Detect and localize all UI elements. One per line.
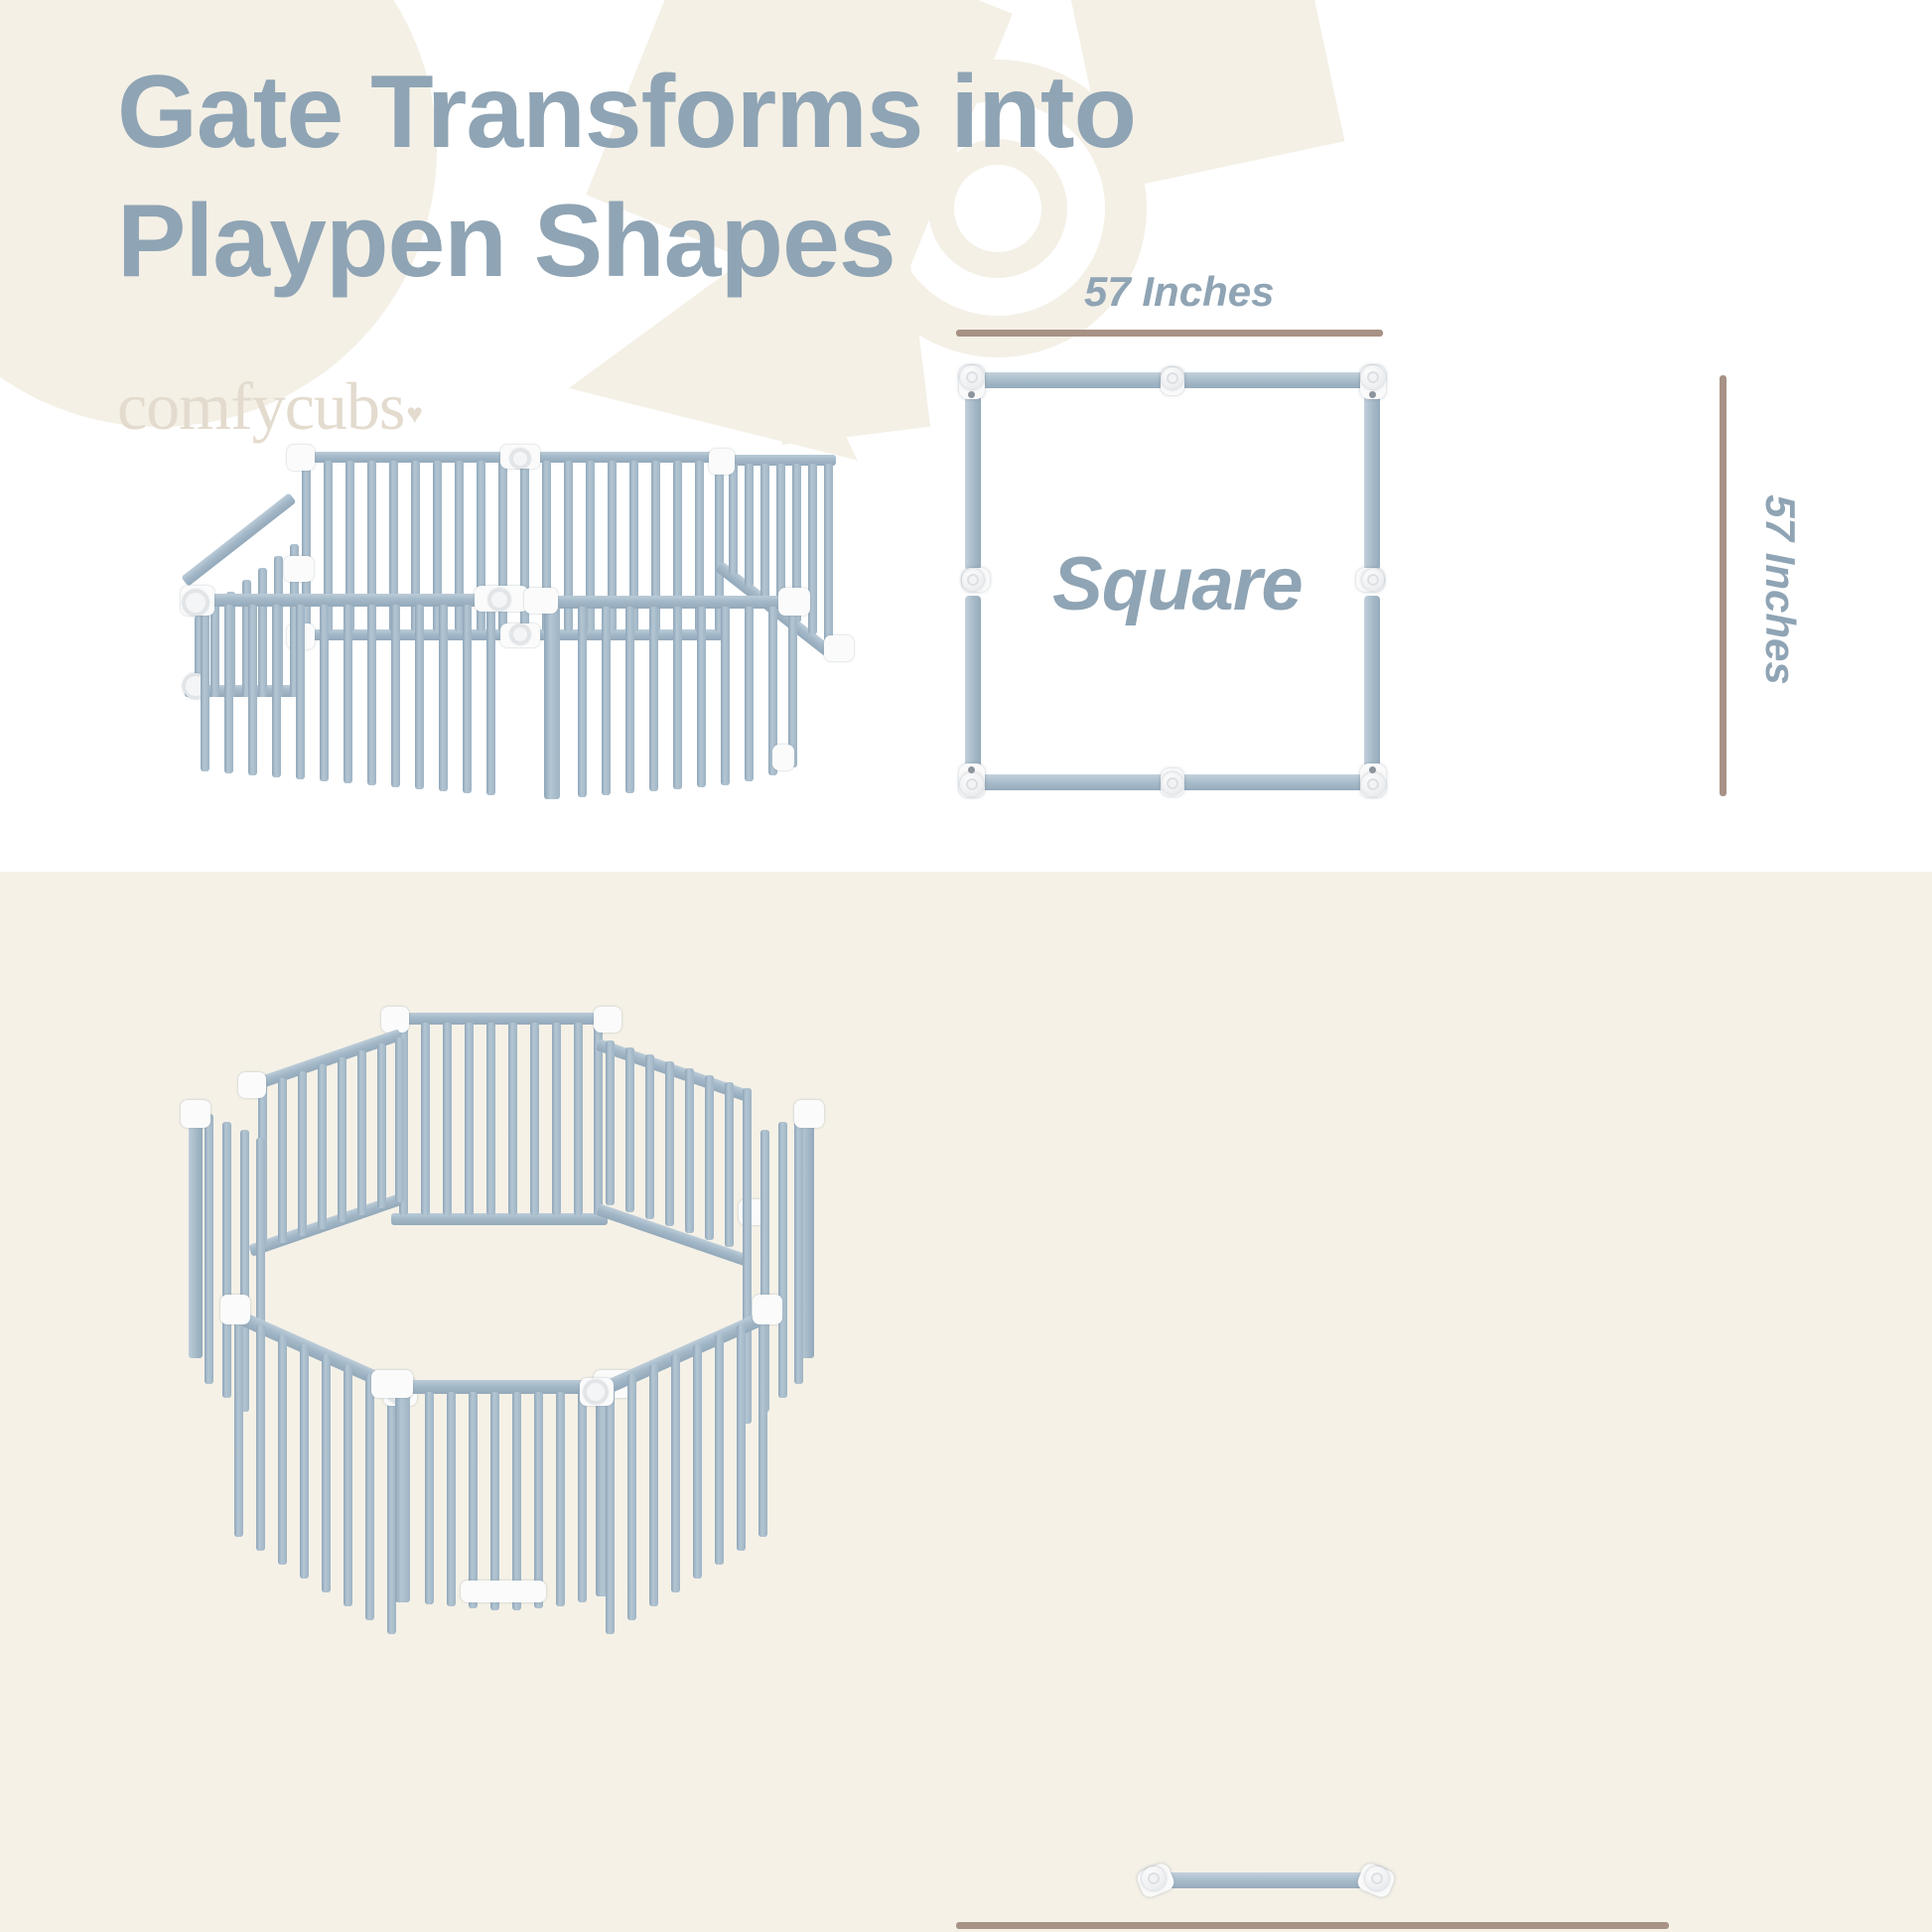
pivot-mid-top bbox=[1162, 367, 1183, 389]
pen-bar bbox=[300, 1344, 309, 1579]
frame-segment-top-left bbox=[967, 372, 1164, 388]
pen-panel-front-right bbox=[538, 596, 808, 784]
width-measure-line-square bbox=[956, 330, 1383, 337]
pen-bar bbox=[322, 1354, 331, 1592]
pen-bar bbox=[443, 1023, 452, 1215]
brand-logo-text: comfycubs bbox=[117, 368, 404, 444]
pen-bar bbox=[272, 605, 281, 777]
frame-segment-left-upper bbox=[965, 391, 981, 570]
pen-hinge-corner bbox=[709, 449, 735, 475]
oct-panel-front-gate bbox=[385, 1380, 620, 1604]
brand-logo: comfycubs♥ bbox=[117, 367, 422, 446]
pen-bar bbox=[625, 1047, 634, 1212]
width-label-square: 57 Inches bbox=[1084, 268, 1274, 316]
pen-bar bbox=[788, 607, 797, 767]
pen-bar bbox=[725, 1082, 734, 1247]
pen-bar bbox=[377, 1043, 386, 1208]
section-octagon: 70 inches 70 inches bbox=[0, 872, 1932, 1932]
pen-hinge-gate bbox=[524, 588, 558, 614]
pen-bar bbox=[625, 607, 634, 793]
pivot-oct-2 bbox=[1365, 1866, 1389, 1890]
rail-left-post bbox=[189, 1108, 203, 1358]
pen-hinge-corner bbox=[284, 556, 314, 582]
height-measure-line-square bbox=[1720, 375, 1726, 796]
pen-bar bbox=[602, 607, 611, 795]
oct-pivot bbox=[584, 1380, 608, 1404]
pen-bar bbox=[721, 607, 730, 785]
pen-bar bbox=[673, 607, 682, 789]
pen-bar bbox=[705, 1075, 714, 1240]
page-title: Gate Transforms into Playpen Shapes bbox=[117, 48, 1348, 306]
oct-panel-front-right bbox=[598, 1305, 776, 1567]
pivot-oct-1 bbox=[1142, 1866, 1166, 1890]
pen-bar bbox=[530, 1023, 539, 1215]
pen-bar bbox=[729, 464, 738, 575]
pivot-mid-right bbox=[1362, 569, 1384, 591]
pen-bar bbox=[201, 605, 209, 771]
frame-segment-right-upper bbox=[1364, 391, 1380, 570]
oct-hinge bbox=[753, 1295, 782, 1324]
pen-bar bbox=[824, 464, 833, 646]
pen-bar bbox=[256, 1324, 265, 1551]
pen-bar bbox=[508, 1023, 517, 1215]
pen-bar bbox=[665, 1061, 674, 1226]
pivot-corner-br bbox=[1361, 772, 1385, 796]
heart-icon: ♥ bbox=[406, 399, 422, 430]
pen-bar bbox=[318, 1064, 327, 1229]
pen-bar bbox=[737, 1324, 746, 1551]
pen-bar bbox=[693, 1344, 702, 1579]
pen-bar bbox=[365, 1374, 374, 1620]
pivot-corner-bl bbox=[960, 772, 984, 796]
pen-bar bbox=[395, 1037, 404, 1202]
pen-bar bbox=[606, 1384, 615, 1634]
pen-bar bbox=[296, 605, 305, 779]
pen-bar bbox=[298, 1071, 307, 1236]
pen-post bbox=[544, 607, 560, 799]
pen-bar bbox=[338, 1057, 346, 1222]
oct-panel-back-left bbox=[250, 1033, 401, 1259]
shape-label-square: Square bbox=[1052, 541, 1303, 627]
oct-hinge bbox=[220, 1295, 250, 1324]
pen-pivot bbox=[488, 589, 510, 611]
oct-hinge-gate bbox=[371, 1370, 413, 1398]
oct-hinge bbox=[794, 1100, 824, 1128]
frame-segment-bottom-right bbox=[1181, 774, 1376, 790]
pen-bar bbox=[415, 605, 424, 789]
oct-hinge bbox=[181, 1100, 210, 1128]
pen-bar bbox=[278, 1334, 287, 1565]
pen-bar bbox=[671, 1354, 680, 1592]
pen-bar bbox=[278, 1078, 287, 1243]
frame-segment-bottom-left bbox=[967, 774, 1164, 790]
oct-panel-back-right bbox=[598, 1033, 749, 1259]
pen-bar bbox=[578, 1392, 587, 1602]
pen-bar bbox=[649, 607, 658, 791]
pen-bar bbox=[486, 1023, 495, 1215]
pivot-corner-tl bbox=[960, 365, 984, 389]
pen-bar bbox=[745, 607, 754, 781]
pen-bar bbox=[512, 1392, 521, 1610]
pen-bar bbox=[685, 1068, 694, 1233]
oct-panel-front-left bbox=[226, 1305, 405, 1567]
height-label-square: 57 Inches bbox=[1756, 471, 1804, 709]
pivot-mid-left bbox=[962, 569, 984, 591]
pen-pivot bbox=[183, 590, 208, 616]
playpen-photo-square bbox=[169, 437, 844, 824]
pen-bar bbox=[745, 464, 754, 587]
oct-panel-back bbox=[391, 1013, 608, 1225]
pen-bar bbox=[248, 605, 257, 775]
oct-hinge bbox=[238, 1072, 266, 1098]
frame-segment-top-right bbox=[1181, 372, 1376, 388]
pen-bar bbox=[649, 1364, 658, 1606]
pen-bar bbox=[778, 1122, 787, 1398]
pen-bar bbox=[391, 605, 400, 787]
oct-hinge bbox=[594, 1007, 621, 1033]
pen-hinge-corner bbox=[287, 445, 315, 471]
pen-bar bbox=[760, 464, 769, 599]
section-square: Gate Transforms into Playpen Shapes comf… bbox=[0, 0, 1932, 872]
pen-bar bbox=[490, 1392, 499, 1610]
pen-bar bbox=[645, 1054, 654, 1219]
pen-bar bbox=[556, 1392, 565, 1606]
pen-bar bbox=[447, 1392, 456, 1606]
pen-bar bbox=[552, 1023, 561, 1215]
pen-bar bbox=[224, 605, 233, 773]
pen-bar bbox=[578, 607, 587, 797]
pen-bar bbox=[534, 1392, 543, 1608]
pen-bar bbox=[463, 605, 472, 793]
pen-bar bbox=[205, 1114, 213, 1384]
pen-pivot bbox=[510, 449, 530, 469]
octagon-frame-diagram bbox=[918, 1864, 1613, 1932]
pivot-mid-bottom bbox=[1162, 772, 1183, 794]
pen-bar bbox=[344, 1364, 352, 1606]
pen-post bbox=[395, 1392, 410, 1602]
pen-bar bbox=[715, 1334, 724, 1565]
pen-bar bbox=[439, 605, 448, 791]
frame-segment-top bbox=[1163, 1872, 1369, 1888]
pen-bar bbox=[421, 1023, 430, 1215]
pen-bar bbox=[697, 607, 706, 787]
pen-bar bbox=[465, 1023, 474, 1215]
pen-bar bbox=[234, 1314, 243, 1537]
pen-bar bbox=[759, 1314, 767, 1537]
frame-segment-right-lower bbox=[1364, 596, 1380, 774]
pen-bar bbox=[357, 1050, 366, 1215]
pen-bar bbox=[469, 1392, 478, 1608]
oct-hinge-foot bbox=[461, 1581, 546, 1602]
pivot-corner-tr bbox=[1361, 365, 1385, 389]
pen-hinge-foot bbox=[772, 745, 794, 770]
pen-hinge-corner bbox=[824, 635, 854, 661]
pen-panel-front-left bbox=[191, 594, 518, 780]
pen-bar bbox=[606, 1040, 615, 1205]
pen-bar bbox=[344, 605, 352, 783]
pen-bar bbox=[425, 1392, 434, 1604]
pen-bar bbox=[486, 605, 495, 795]
frame-segment-left-lower bbox=[965, 596, 981, 774]
pen-bar bbox=[320, 605, 329, 781]
pen-bar bbox=[794, 1114, 803, 1384]
infographic-page: Gate Transforms into Playpen Shapes comf… bbox=[0, 0, 1932, 1932]
pen-bar bbox=[574, 1023, 583, 1215]
pen-bar bbox=[627, 1374, 636, 1620]
playpen-photo-octagon bbox=[139, 991, 854, 1587]
pen-bar bbox=[367, 605, 376, 785]
pen-hinge-corner bbox=[778, 588, 810, 616]
